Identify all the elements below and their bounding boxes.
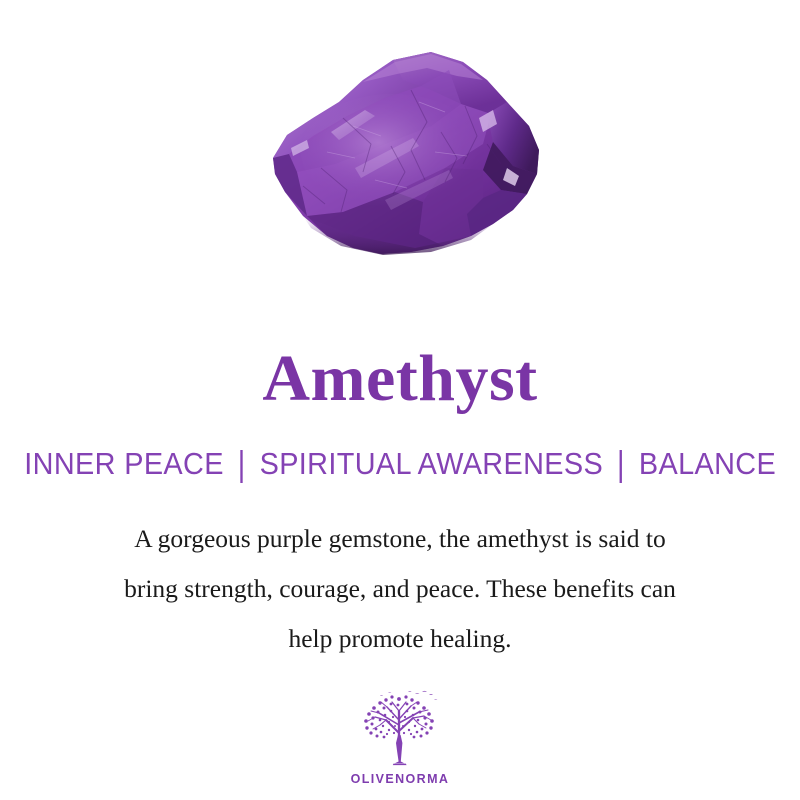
page-title: Amethyst [262,346,537,412]
keyword-list: INNER PEACE | SPIRITUAL AWARENESS | BALA… [22,446,777,482]
keyword-separator: | [226,443,258,484]
brand-name: OLIVENORMA [351,772,450,786]
description-line: bring strength, courage, and peace. Thes… [50,564,750,614]
amethyst-info-card: Amethyst INNER PEACE | SPIRITUAL AWARENE… [0,0,800,800]
tree-icon [353,689,447,769]
keyword-inner-peace: INNER PEACE [22,446,225,482]
keyword-spiritual-awareness: SPIRITUAL AWARENESS [258,446,605,482]
keyword-balance: BALANCE [637,446,778,482]
description-line: A gorgeous purple gemstone, the amethyst… [50,514,750,564]
keyword-separator: | [605,443,637,484]
description-line: help promote healing. [50,614,750,664]
amethyst-crystal-icon [235,40,565,280]
description-text: A gorgeous purple gemstone, the amethyst… [50,514,750,664]
hero-image-container [0,0,800,320]
brand-logo: OLIVENORMA [0,689,800,786]
